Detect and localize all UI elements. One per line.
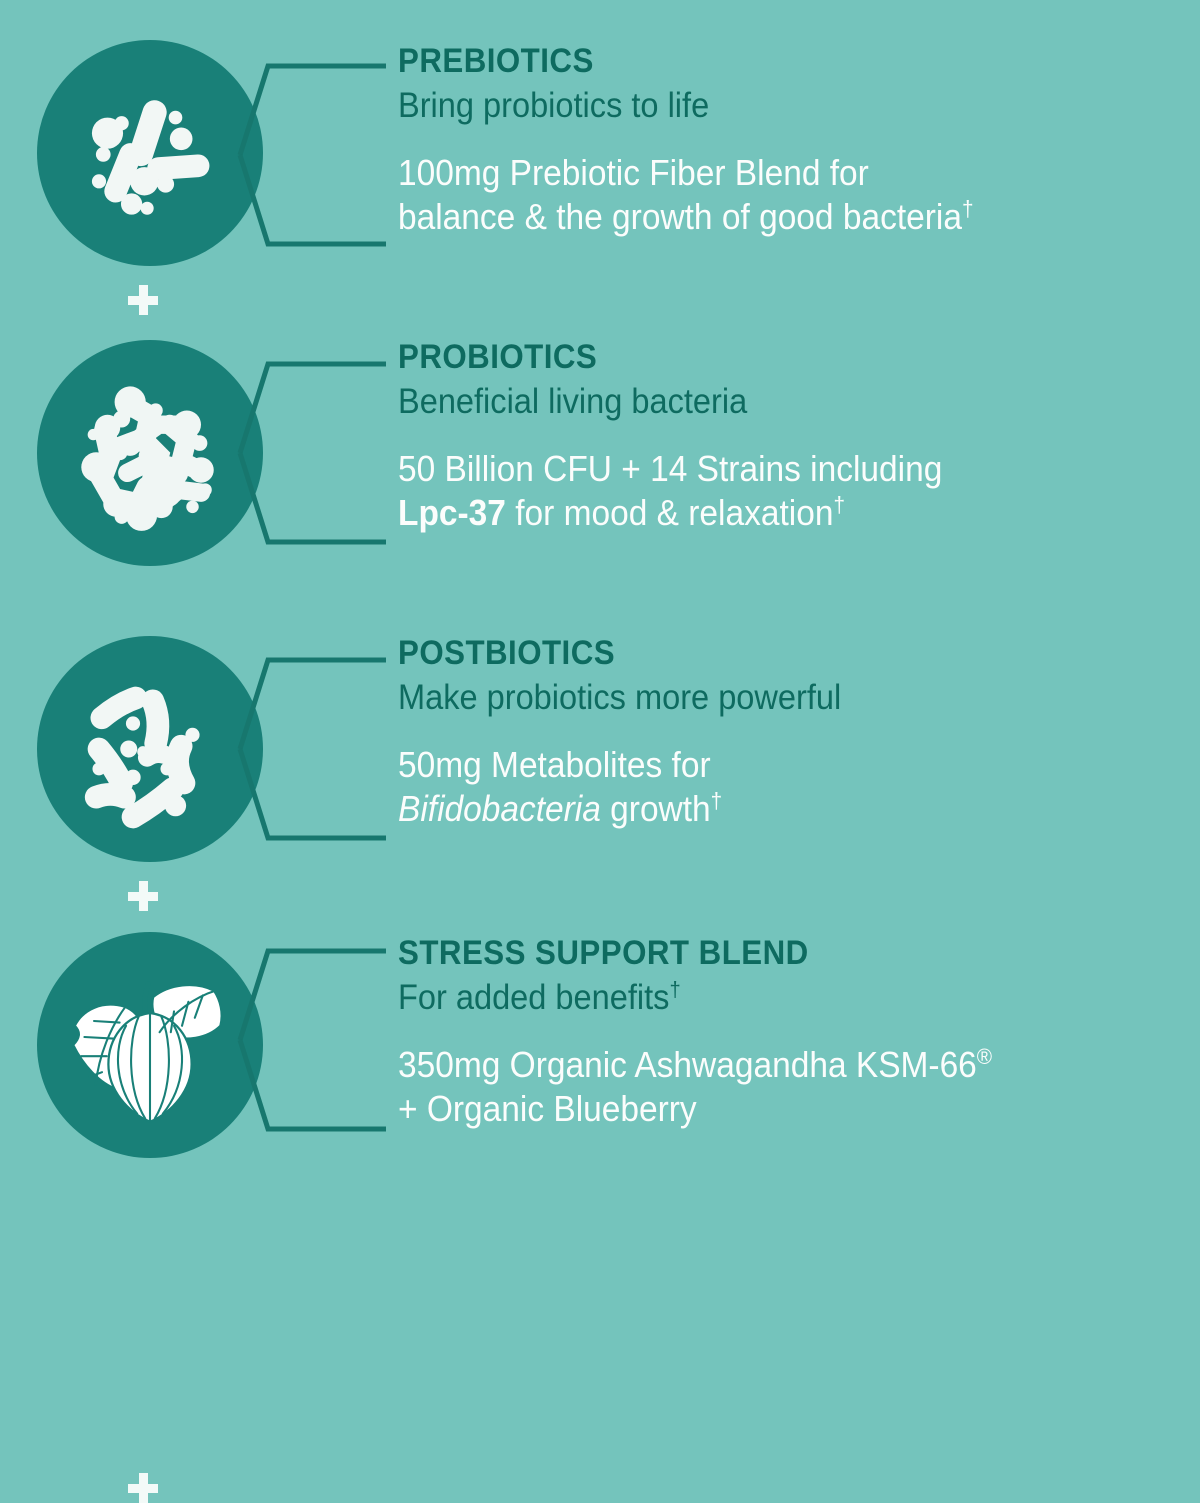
- benefit-heading: POSTBIOTICS: [398, 634, 1117, 672]
- benefit-subhead: Bring probiotics to life: [398, 84, 1125, 129]
- benefit-heading: PREBIOTICS: [398, 42, 1117, 80]
- detail-line: Bifidobacteria growth†: [398, 787, 1183, 831]
- detail-line: 50 Billion CFU + 14 Strains including: [398, 447, 1183, 491]
- benefit-row-postbiotics: POSTBIOTICS Make probiotics more powerfu…: [0, 596, 1200, 892]
- detail-line: + Organic Blueberry: [398, 1087, 1183, 1131]
- icon-badge-prebiotics: [37, 40, 263, 266]
- benefit-subhead-text: Beneficial living bacteria: [398, 382, 747, 421]
- benefit-text-prebiotics: PREBIOTICS Bring probiotics to life 100m…: [398, 42, 1180, 239]
- benefit-heading: PROBIOTICS: [398, 338, 1117, 376]
- icon-badge-probiotics: [37, 340, 263, 566]
- detail-line: 100mg Prebiotic Fiber Blend for: [398, 151, 1183, 195]
- icon-badge-postbiotics: [37, 636, 263, 862]
- benefit-text-probiotics: PROBIOTICS Beneficial living bacteria 50…: [398, 338, 1180, 535]
- benefit-heading: STRESS SUPPORT BLEND: [398, 934, 1117, 972]
- benefit-detail: 350mg Organic Ashwagandha KSM-66® + Orga…: [398, 1043, 1183, 1131]
- connector-bracket: [240, 626, 390, 876]
- dagger-symbol: †: [833, 492, 845, 517]
- dagger-symbol: †: [711, 788, 723, 813]
- benefit-subhead-text: For added benefits: [398, 978, 669, 1017]
- benefit-row-probiotics: PROBIOTICS Beneficial living bacteria 50…: [0, 300, 1200, 596]
- benefit-row-prebiotics: PREBIOTICS Bring probiotics to life 100m…: [0, 0, 1200, 300]
- strain-name: Lpc-37: [398, 492, 506, 533]
- benefit-subhead: Make probiotics more powerful: [398, 676, 1125, 721]
- detail-line: 50mg Metabolites for: [398, 743, 1183, 787]
- benefit-row-stress-support: STRESS SUPPORT BLEND For added benefits†…: [0, 892, 1200, 1200]
- dagger-symbol: †: [669, 976, 680, 1001]
- registered-trademark-symbol: ®: [977, 1044, 992, 1069]
- benefit-detail: 100mg Prebiotic Fiber Blend for balance …: [398, 151, 1183, 239]
- connector-bracket: [240, 30, 390, 280]
- benefit-subhead: For added benefits†: [398, 976, 1125, 1021]
- detail-line: 350mg Organic Ashwagandha KSM-66®: [398, 1043, 1183, 1087]
- species-name: Bifidobacteria: [398, 788, 601, 829]
- benefit-text-stress-support: STRESS SUPPORT BLEND For added benefits†…: [398, 934, 1180, 1131]
- probiotics-bacteria-network-icon: [65, 368, 235, 538]
- connector-bracket: [240, 330, 390, 580]
- benefit-text-postbiotics: POSTBIOTICS Make probiotics more powerfu…: [398, 634, 1180, 831]
- postbiotics-bacilli-icon: [65, 664, 235, 834]
- dagger-symbol: †: [962, 196, 974, 221]
- icon-badge-stress-support: [37, 932, 263, 1158]
- detail-line: balance & the growth of good bacteria†: [398, 195, 1183, 239]
- infographic-canvas: PREBIOTICS Bring probiotics to life 100m…: [0, 0, 1200, 1200]
- prebiotics-bacteria-rods-icon: [65, 68, 235, 238]
- detail-line: Lpc-37 for mood & relaxation†: [398, 491, 1183, 535]
- benefit-detail: 50 Billion CFU + 14 Strains including Lp…: [398, 447, 1183, 535]
- plus-separator: [128, 1473, 158, 1503]
- benefit-subhead-text: Make probiotics more powerful: [398, 678, 841, 717]
- connector-bracket: [240, 922, 390, 1172]
- benefit-subhead: Beneficial living bacteria: [398, 380, 1125, 425]
- benefit-subhead-text: Bring probiotics to life: [398, 86, 709, 125]
- ashwagandha-berry-leaves-icon: [54, 949, 246, 1141]
- benefit-detail: 50mg Metabolites for Bifidobacteria grow…: [398, 743, 1183, 831]
